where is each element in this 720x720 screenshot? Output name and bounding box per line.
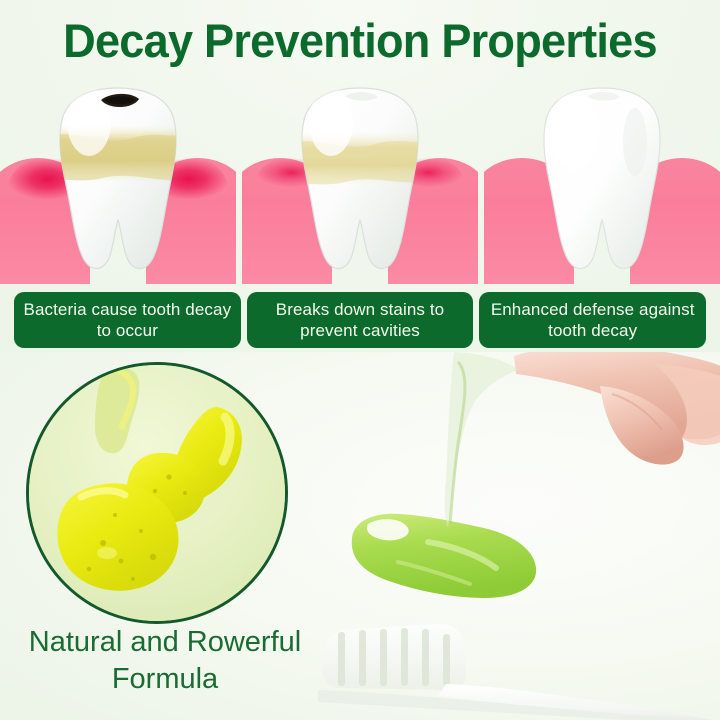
poster-root: Decay Prevention Properties <box>0 0 720 720</box>
caption-pill-decay: Bacteria cause tooth decay to occur <box>14 292 241 348</box>
gel-stream <box>398 352 528 532</box>
page-title: Decay Prevention Properties <box>14 12 705 70</box>
lower-photo-section: Natural and Rowerful Formula <box>0 352 720 720</box>
formula-text: Natural and Rowerful Formula <box>0 624 330 698</box>
tooth-stained-icon <box>285 82 435 280</box>
caption-pill-stains: Breaks down stains to prevent cavities <box>247 292 474 348</box>
panel-stained-tooth <box>242 78 478 284</box>
tooth-panel-row <box>0 78 720 284</box>
tooth-healthy-icon <box>527 82 677 280</box>
panel-healthy-tooth <box>484 78 720 284</box>
formula-line-1: Natural and Rowerful <box>0 624 330 661</box>
caption-pill-defense: Enhanced defense against tooth decay <box>479 292 706 348</box>
formula-line-2: Formula <box>0 661 330 698</box>
panel-decayed-tooth <box>0 78 236 284</box>
tooth-decayed-icon <box>43 82 193 280</box>
caption-row: Bacteria cause tooth decay to occur Brea… <box>0 292 720 348</box>
magnifier-circle <box>26 362 288 624</box>
hand-fingers-image <box>504 352 720 498</box>
